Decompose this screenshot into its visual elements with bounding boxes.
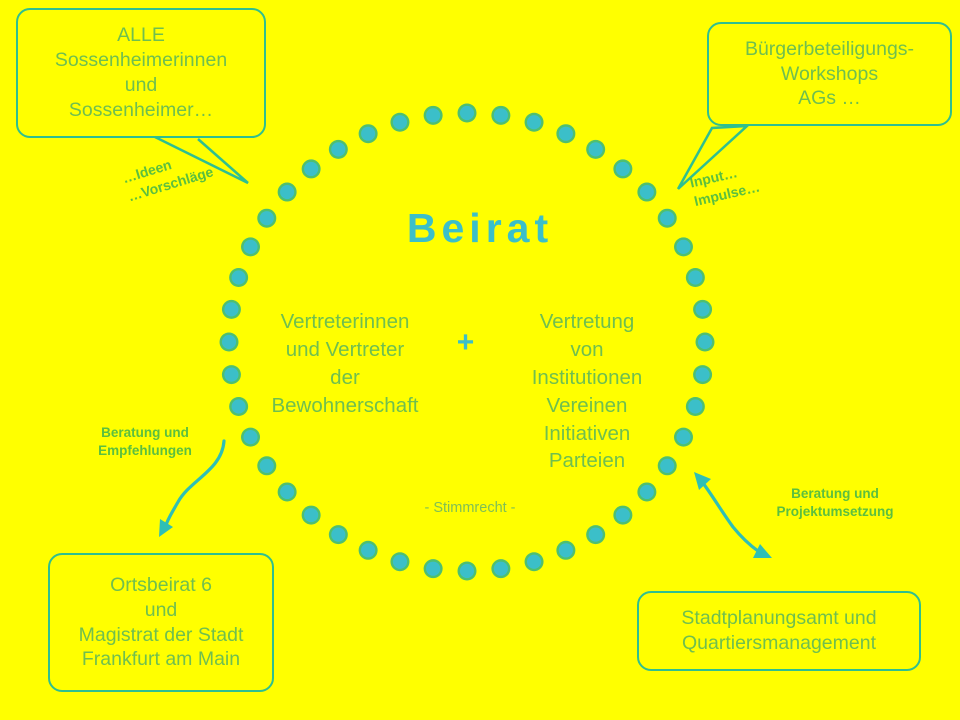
circle-dot — [393, 555, 407, 569]
bubble-line: Sossenheimer… — [18, 98, 264, 123]
circle-dot — [361, 543, 375, 557]
circle-dot — [243, 430, 257, 444]
circle-dot — [616, 508, 630, 522]
circle-dot — [527, 115, 541, 129]
arrow-head-right-upper — [694, 472, 711, 490]
circle-dot — [695, 302, 709, 316]
circle-dot — [559, 127, 573, 141]
circle-dot — [616, 162, 630, 176]
center-column-left: Vertreterinnen und Vertreter der Bewohne… — [250, 308, 440, 420]
circle-dot — [688, 399, 702, 413]
circle-dot — [331, 528, 345, 542]
center-line: Institutionen — [492, 364, 682, 392]
circle-dot — [232, 270, 246, 284]
bubble-stadtplanungsamt-quartiersmanagement[interactable]: Stadtplanungsamt und Quartiersmanagement — [637, 591, 921, 671]
circle-dot — [280, 485, 294, 499]
circle-dot — [224, 302, 238, 316]
circle-dot — [304, 162, 318, 176]
center-line: Parteien — [492, 447, 682, 475]
bubble-line: ALLE — [18, 23, 264, 48]
circle-dot — [494, 108, 508, 122]
circle-dot — [331, 142, 345, 156]
center-line: Vertreterinnen — [250, 308, 440, 336]
center-column-right: Vertretung von Institutionen Vereinen In… — [492, 308, 682, 475]
center-line: Initiativen — [492, 420, 682, 448]
circle-dot — [640, 185, 654, 199]
plus-icon: + — [438, 328, 493, 358]
flow-label-line: Projektumsetzung — [740, 503, 930, 521]
center-line: und Vertreter — [250, 336, 440, 364]
circle-dot — [304, 508, 318, 522]
label-beratung-empfehlungen: Beratung und Empfehlungen — [70, 424, 220, 460]
center-line: Vereinen — [492, 392, 682, 420]
bubble-line: Quartiersmanagement — [639, 631, 919, 656]
center-line: Bewohnerschaft — [250, 392, 440, 420]
flow-label-line: Empfehlungen — [70, 442, 220, 460]
circle-dot — [426, 108, 440, 122]
bubble-workshops-lines: Bürgerbeteiligungs- Workshops AGs … — [709, 37, 950, 112]
label-beratung-projektumsetzung: Beratung und Projektumsetzung — [740, 485, 930, 521]
bubble-line: Workshops — [709, 62, 950, 87]
bubble-line: und — [50, 598, 272, 623]
circle-dot — [361, 127, 375, 141]
circle-dot — [695, 367, 709, 381]
bubble-stadtplanung-lines: Stadtplanungsamt und Quartiersmanagement — [639, 606, 919, 656]
bubble-line: Sossenheimerinnen — [18, 48, 264, 73]
bubble-line: Ortsbeirat 6 — [50, 573, 272, 598]
bubble-line: Bürgerbeteiligungs- — [709, 37, 950, 62]
bubble-buergerbeteiligungs-workshops[interactable]: Bürgerbeteiligungs- Workshops AGs … — [707, 22, 952, 126]
circle-dot — [527, 555, 541, 569]
circle-dot — [589, 528, 603, 542]
circle-dot — [688, 270, 702, 284]
page-title: Beirat — [0, 205, 960, 252]
circle-dot — [494, 562, 508, 576]
bubble-ortsbeirat-lines: Ortsbeirat 6 und Magistrat der Stadt Fra… — [50, 573, 272, 673]
circle-dot — [260, 459, 274, 473]
flow-label-line: Beratung und — [70, 424, 220, 442]
bubble-line: und — [18, 73, 264, 98]
circle-dot — [460, 564, 474, 578]
circle-dot — [393, 115, 407, 129]
bubble-line: Stadtplanungsamt und — [639, 606, 919, 631]
circle-dot — [224, 367, 238, 381]
bubble-alle-lines: ALLE Sossenheimerinnen und Sossenheimer… — [18, 23, 264, 123]
circle-dot — [589, 142, 603, 156]
bubble-alle-sossenheimer[interactable]: ALLE Sossenheimerinnen und Sossenheimer… — [16, 8, 266, 138]
center-line: von — [492, 336, 682, 364]
circle-dot — [698, 335, 712, 349]
flow-label-line: Beratung und — [740, 485, 930, 503]
circle-dot — [426, 562, 440, 576]
bubble-ortsbeirat-magistrat[interactable]: Ortsbeirat 6 und Magistrat der Stadt Fra… — [48, 553, 274, 692]
circle-dot — [559, 543, 573, 557]
circle-dot — [460, 106, 474, 120]
circle-dot — [640, 485, 654, 499]
bubble-line: Magistrat der Stadt — [50, 623, 272, 648]
circle-dot — [222, 335, 236, 349]
circle-dot — [232, 399, 246, 413]
circle-dot — [280, 185, 294, 199]
stimmrecht-footnote: - Stimmrecht - — [330, 500, 610, 516]
center-line: der — [250, 364, 440, 392]
center-line: Vertretung — [492, 308, 682, 336]
bubble-line: AGs … — [709, 86, 950, 111]
diagram-canvas: ALLE Sossenheimerinnen und Sossenheimer…… — [0, 0, 960, 720]
bubble-line: Frankfurt am Main — [50, 647, 272, 672]
